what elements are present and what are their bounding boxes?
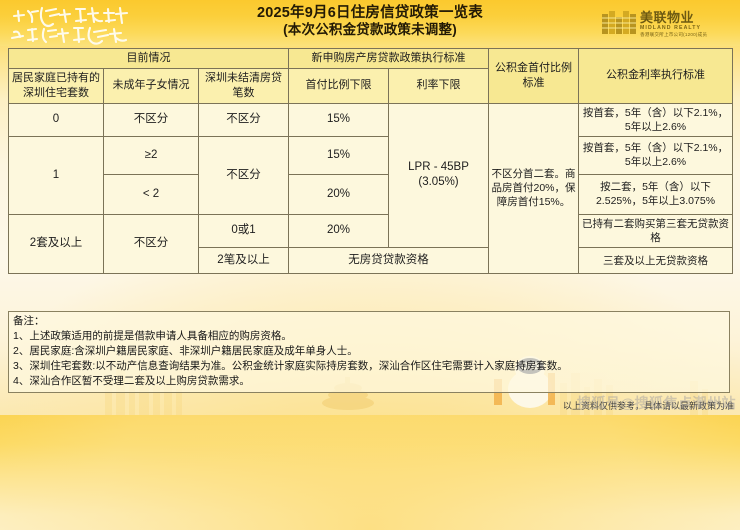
note-item-1: 1、上述政策适用的前提是借款申请人具备相应的购房资格。	[13, 329, 725, 344]
page-subtitle: (本次公积金贷款政策未调整)	[150, 22, 590, 39]
rate-value-main: LPR - 45BP	[391, 160, 486, 176]
table-row: 0 不区分 不区分 15% LPR - 45BP (3.05%) 不区分首二套。…	[9, 103, 733, 136]
cell-fund-downpayment-value: 不区分首二套。商品房首付20%，保障房首付15%。	[489, 103, 579, 274]
col-header-unsettled-loans: 深圳未结清房贷笔数	[199, 68, 289, 103]
cell-minor-3: 不区分	[104, 214, 199, 273]
notes-heading: 备注：	[13, 314, 725, 329]
logo-name-en: MIDLAND REALTY	[640, 26, 707, 31]
midland-m-icon	[602, 11, 636, 37]
cell-downpay-1: 15%	[289, 136, 389, 174]
policy-table-wrap: 目前情况 新申购房产房贷款政策执行标准 公积金首付比例标准 公积金利率执行标准 …	[8, 48, 732, 274]
table-header-row-1: 目前情况 新申购房产房贷款政策执行标准 公积金首付比例标准 公积金利率执行标准	[9, 49, 733, 69]
table-row: < 2 20% 按二套，5年（含）以下2.525%，5年以上3.075%	[9, 174, 733, 214]
cell-unsettled-1: 不区分	[199, 136, 289, 214]
note-item-3: 3、深圳住宅套数:以不动产信息查询结果为准。公积金统计家庭实际持房套数，深汕合作…	[13, 359, 725, 374]
page-title: 2025年9月6日住房信贷政策一览表	[150, 4, 590, 22]
table-row: 2套及以上 不区分 0或1 20% 已持有二套购买第三套无贷款资格	[9, 214, 733, 247]
cell-minor-0: 不区分	[104, 103, 199, 136]
cell-downpay-3: 20%	[289, 214, 389, 247]
note-item-2: 2、居民家庭:含深圳户籍居民家庭、非深圳户籍居民家庭及成年单身人士。	[13, 344, 725, 359]
cell-fund-rate-2: 按二套，5年（含）以下2.525%，5年以上3.075%	[579, 174, 733, 214]
col-header-downpayment-floor: 首付比例下限	[289, 68, 389, 103]
cell-fund-rate-3: 已持有二套购买第三套无贷款资格	[579, 214, 733, 247]
cell-downpay-0: 15%	[289, 103, 389, 136]
header-band: 2025年9月6日住房信贷政策一览表 (本次公积金贷款政策未调整) 美联物业 M…	[0, 0, 740, 46]
cell-houses-3: 2套及以上	[9, 214, 104, 273]
logo-text: 美联物业 MIDLAND REALTY 香港联交所上市公司(1200)成员	[640, 11, 707, 38]
cell-unsettled-3: 0或1	[199, 214, 289, 247]
cell-fund-rate-0: 按首套，5年（含）以下2.1%，5年以上2.6%	[579, 103, 733, 136]
group-header-new-loan: 新申购房产房贷款政策执行标准	[289, 49, 489, 69]
cell-downpay-2: 20%	[289, 174, 389, 214]
table-row: 1 ≥2 不区分 15% 按首套，5年（含）以下2.1%，5年以上2.6%	[9, 136, 733, 174]
disclaimer-text: 以上资料仅供参考，具体请以最新政策为准	[563, 399, 734, 412]
cell-fund-rate-4: 三套及以上无贷款资格	[579, 248, 733, 274]
cell-unsettled-0: 不区分	[199, 103, 289, 136]
note-item-4: 4、深汕合作区暂不受理二套及以上购房贷款需求。	[13, 374, 725, 389]
col-header-fund-rate: 公积金利率执行标准	[579, 49, 733, 104]
col-header-houses-owned: 居民家庭已持有的深圳住宅套数	[9, 68, 104, 103]
cell-minor-1: ≥2	[104, 136, 199, 174]
cell-houses-0: 0	[9, 103, 104, 136]
col-header-minor-children: 未成年子女情况	[104, 68, 199, 103]
page-title-wrap: 2025年9月6日住房信贷政策一览表 (本次公积金贷款政策未调整)	[150, 4, 590, 39]
group-header-current: 目前情况	[9, 49, 289, 69]
col-header-rate-floor: 利率下限	[389, 68, 489, 103]
logo-name-cn: 美联物业	[640, 11, 707, 24]
cell-houses-1: 1	[9, 136, 104, 214]
rate-value-percent: (3.05%)	[391, 175, 486, 191]
cell-unsettled-4: 2笔及以上	[199, 248, 289, 274]
cell-minor-2: < 2	[104, 174, 199, 214]
col-header-fund-downpayment: 公积金首付比例标准	[489, 49, 579, 104]
policy-table: 目前情况 新申购房产房贷款政策执行标准 公积金首付比例标准 公积金利率执行标准 …	[8, 48, 733, 274]
company-logo: 美联物业 MIDLAND REALTY 香港联交所上市公司(1200)成员	[602, 4, 734, 44]
cell-fund-rate-1: 按首套，5年（含）以下2.1%，5年以上2.6%	[579, 136, 733, 174]
notes-box: 备注： 1、上述政策适用的前提是借款申请人具备相应的购房资格。 2、居民家庭:含…	[8, 311, 730, 393]
cell-downpay-4: 无房贷贷款资格	[289, 248, 489, 274]
calligraphy-slogan	[8, 2, 136, 48]
cell-rate-value: LPR - 45BP (3.05%)	[389, 103, 489, 248]
logo-listing-note: 香港联交所上市公司(1200)成员	[640, 33, 707, 38]
